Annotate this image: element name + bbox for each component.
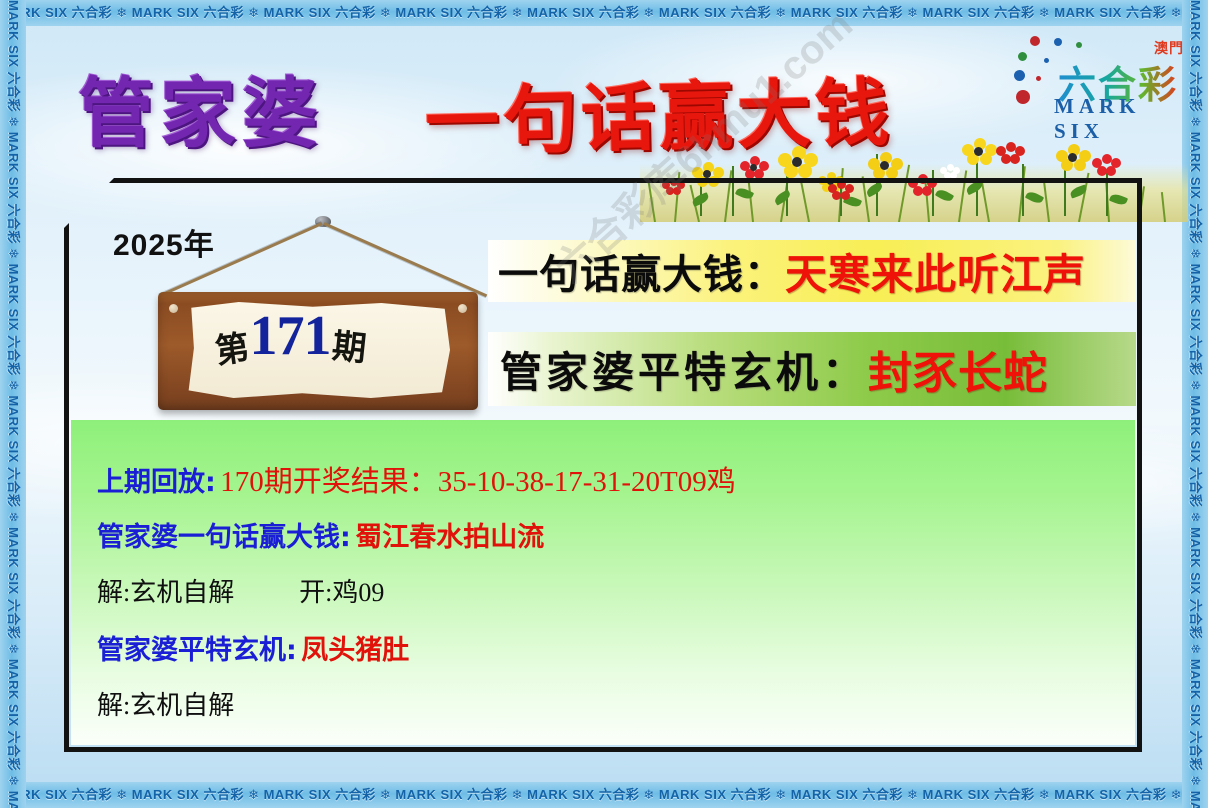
border-pattern-text: MARK SIX 六合彩 ❄ MARK SIX 六合彩 ❄ MARK SIX 六… (0, 782, 1208, 808)
wood-board: 第 171 期 (158, 292, 478, 410)
logo-ball-red-3 (1016, 90, 1030, 104)
list-item: 解:玄机自解 开:鸡09 (97, 572, 384, 609)
row-value: 开:鸡09 (299, 578, 384, 607)
rope-left (159, 222, 323, 297)
banner-slogan-row: 一句话赢大钱： 天寒来此听江声 (488, 240, 1136, 302)
rope-right (323, 222, 487, 297)
border-pattern-text: MARK SIX 六合彩 ❄ MARK SIX 六合彩 ❄ MARK SIX 六… (0, 0, 26, 808)
row-value: 凤头猪肚 (301, 635, 409, 666)
mark-six-logo: 六合彩 MARK SIX 澳門 (1014, 36, 1186, 122)
border-left: MARK SIX 六合彩 ❄ MARK SIX 六合彩 ❄ MARK SIX 六… (0, 0, 26, 808)
list-item: 管家婆平特玄机: 凤头猪肚 (97, 628, 409, 667)
list-item: 上期回放: 170期开奖结果：35-10-38-17-31-20T09鸡 (97, 458, 736, 500)
logo-ball-blue-3 (1014, 70, 1025, 81)
banner-value: 封豕长蛇 (868, 337, 1048, 401)
row-label: 管家婆一句话赢大钱: (97, 522, 351, 553)
poster-canvas: MARK SIX 六合彩 ❄ MARK SIX 六合彩 ❄ MARK SIX 六… (0, 0, 1208, 808)
issue-suffix: 期 (330, 318, 369, 370)
banner-label: 一句话赢大钱： (498, 242, 785, 300)
banner-pingte-row: 管家婆平特玄机： 封豕长蛇 (488, 332, 1136, 406)
border-top: MARK SIX 六合彩 ❄ MARK SIX 六合彩 ❄ MARK SIX 六… (0, 0, 1208, 26)
row-label: 解:玄机自解 (97, 578, 234, 607)
logo-ball-blue-1 (1054, 38, 1062, 46)
issue-number: 171 (250, 304, 331, 368)
logo-ball-red-2 (1036, 76, 1041, 81)
logo-ball-red-1 (1030, 36, 1040, 46)
logo-region-label: 澳門 (1154, 38, 1184, 58)
row-value: 蜀江春水拍山流 (355, 522, 544, 553)
logo-ball-green-2 (1018, 52, 1027, 61)
content-panel: 上期回放: 170期开奖结果：35-10-38-17-31-20T09鸡 管家婆… (71, 420, 1135, 745)
row-label: 上期回放: (97, 467, 216, 498)
row-label: 管家婆平特玄机: (97, 635, 297, 666)
logo-ball-blue-2 (1044, 58, 1049, 63)
hanging-issue-sign: 第 171 期 (150, 210, 480, 410)
banner-value: 天寒来此听江声 (785, 241, 1086, 302)
row-label: 解:玄机自解 (97, 691, 234, 720)
brand-title: 管家婆 (78, 52, 324, 162)
issue-prefix: 第 (211, 319, 251, 372)
banner-label: 管家婆平特玄机： (500, 339, 868, 400)
logo-ball-green-1 (1076, 42, 1082, 48)
list-item: 管家婆一句话赢大钱: 蜀江春水拍山流 (97, 515, 544, 554)
border-bottom: MARK SIX 六合彩 ❄ MARK SIX 六合彩 ❄ MARK SIX 六… (0, 782, 1208, 808)
list-item: 解:玄机自解 (97, 685, 234, 722)
row-value: 170期开奖结果：35-10-38-17-31-20T09鸡 (220, 466, 736, 498)
border-pattern-text: MARK SIX 六合彩 ❄ MARK SIX 六合彩 ❄ MARK SIX 六… (0, 0, 1208, 26)
issue-number-group: 第 171 期 (158, 292, 422, 388)
